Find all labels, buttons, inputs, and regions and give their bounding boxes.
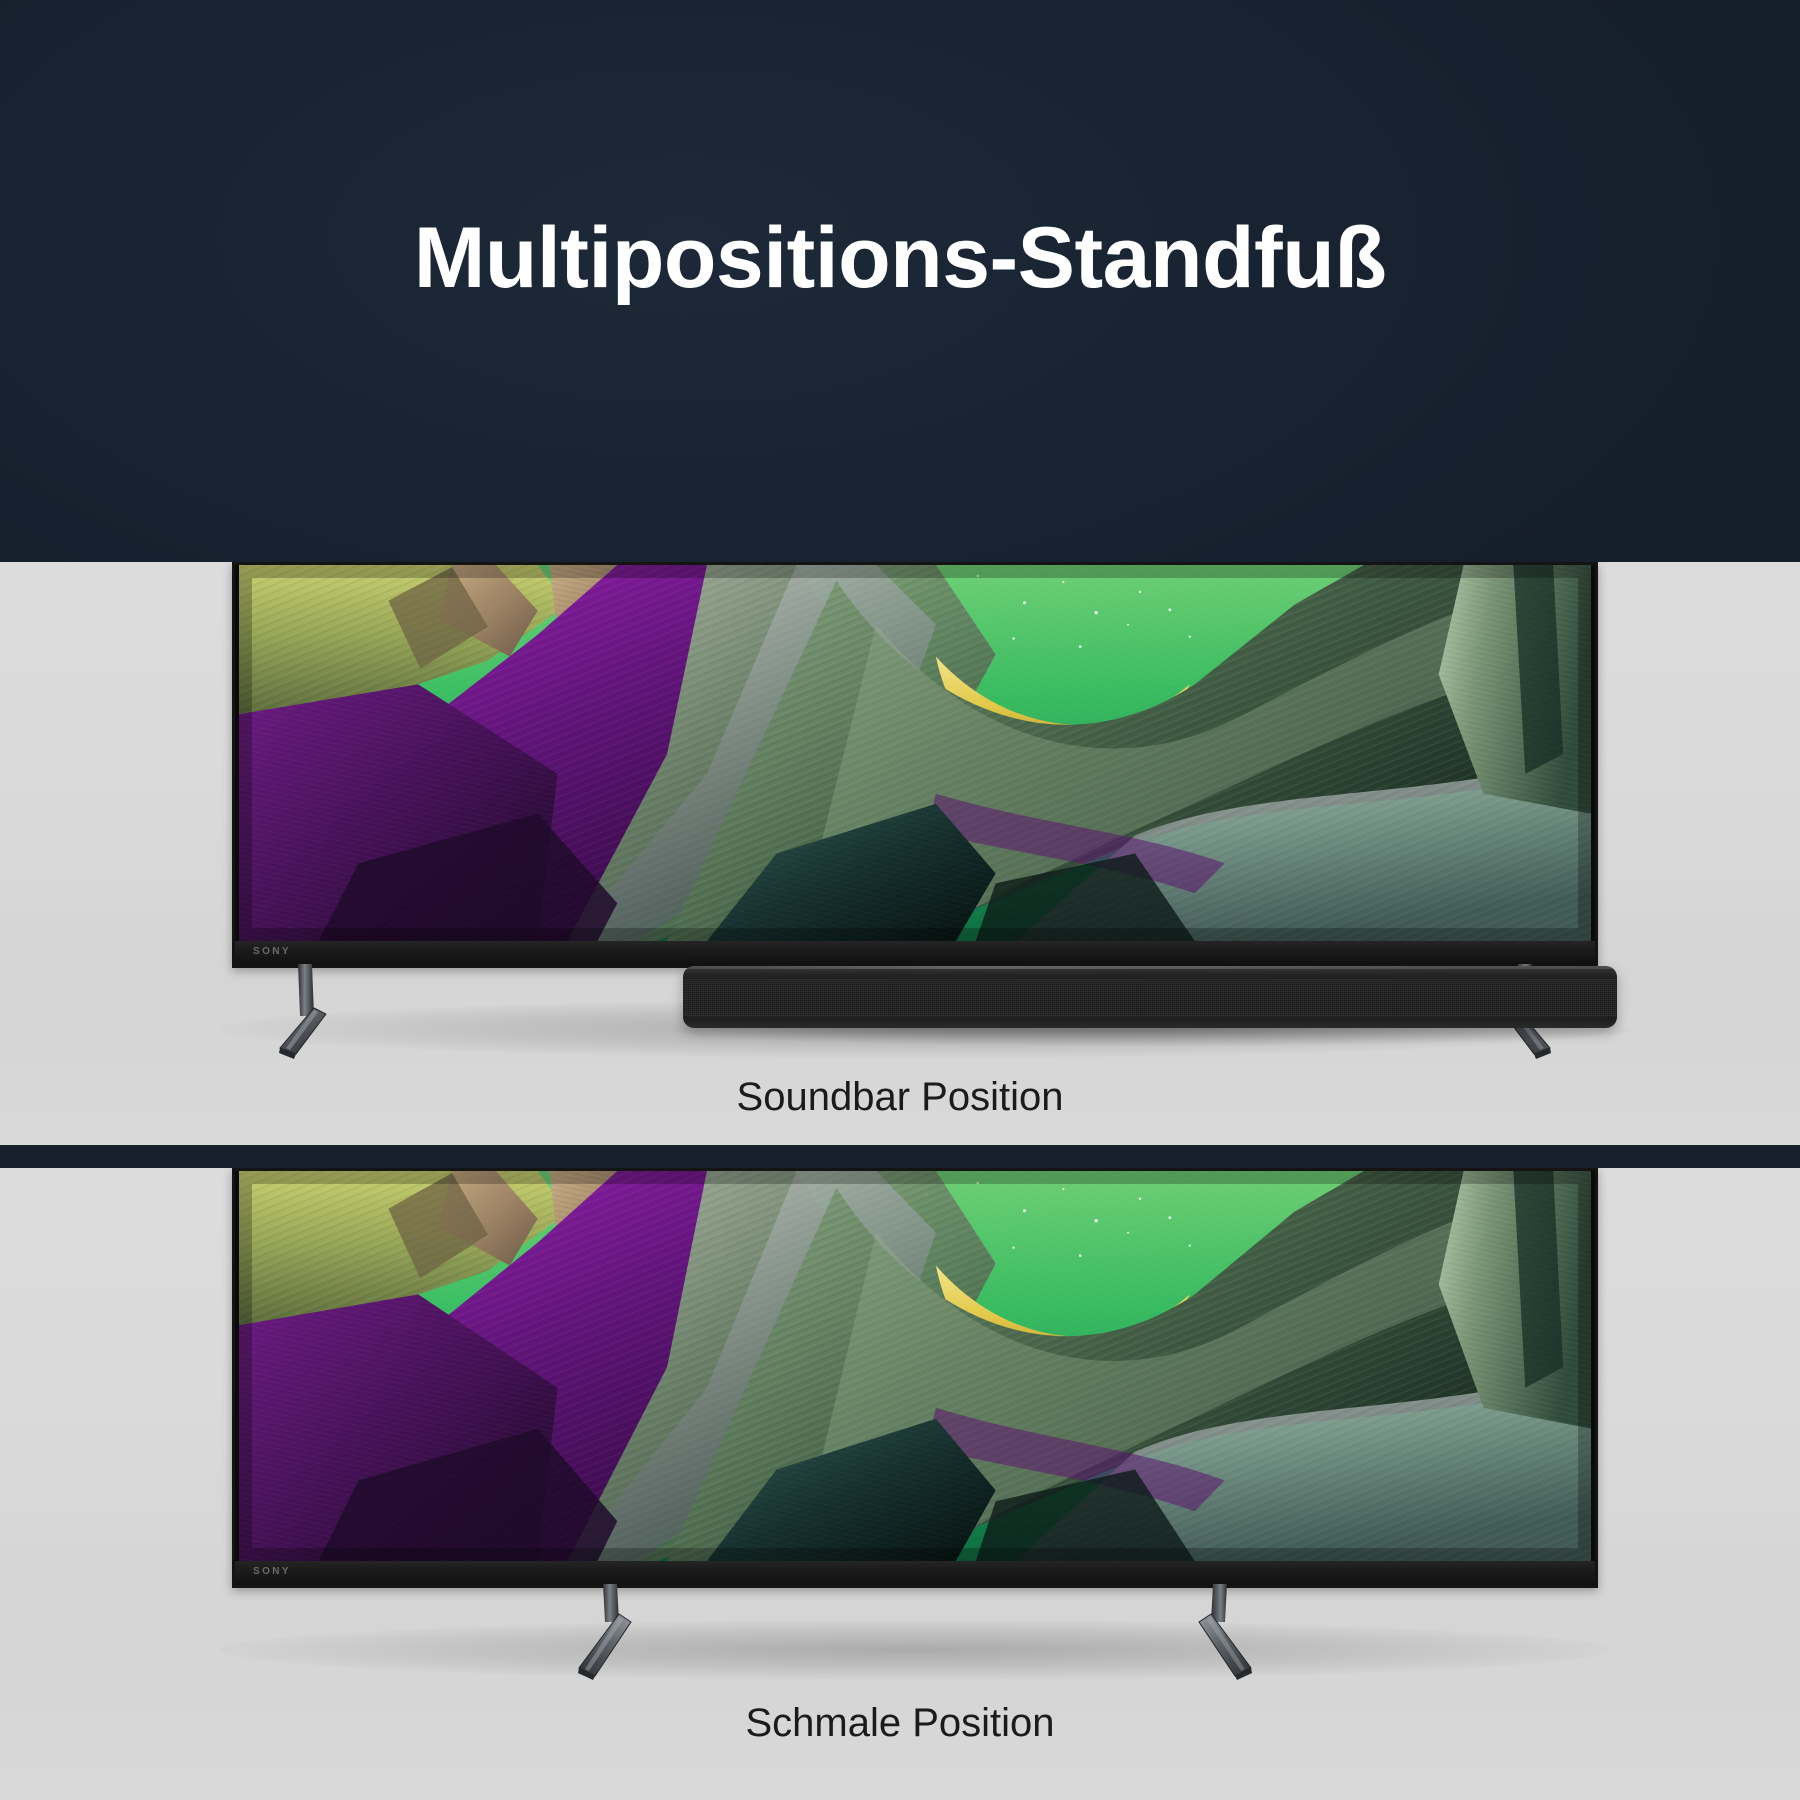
tv-leg-left-wide <box>268 964 342 1060</box>
sony-brand-logo: SONY <box>253 946 291 957</box>
tv-leg-right-narrow <box>1187 1584 1261 1680</box>
television-narrow-stand: SONY <box>232 1168 1598 1588</box>
tv-chassis: SONY <box>232 562 1598 968</box>
soundbar-device <box>683 966 1617 1028</box>
tv-floor-shadow <box>220 1620 1610 1680</box>
tv-bottom-bezel: SONY <box>235 941 1595 965</box>
caption-soundbar-position: Soundbar Position <box>0 1075 1800 1120</box>
soundbar-grille <box>683 979 1617 1017</box>
tv-chassis: SONY <box>232 1168 1598 1588</box>
product-feature-image: Multipositions-Standfuß <box>0 0 1800 1800</box>
caption-narrow-position: Schmale Position <box>0 1701 1800 1746</box>
sony-brand-logo: SONY <box>253 1566 291 1577</box>
soundbar-top-edge <box>683 966 1617 969</box>
page-title: Multipositions-Standfuß <box>0 215 1800 301</box>
tv-bottom-bezel: SONY <box>235 1561 1595 1585</box>
tv-leg-left-narrow <box>569 1584 643 1680</box>
tv-screen <box>239 565 1591 941</box>
television-wide-stand: SONY <box>232 562 1598 968</box>
screen-artwork <box>239 1171 1591 1561</box>
panel-soundbar-position: SONY <box>0 562 1800 1145</box>
screen-artwork <box>239 565 1591 941</box>
section-divider <box>0 1145 1800 1168</box>
header-banner: Multipositions-Standfuß <box>0 0 1800 562</box>
panel-narrow-position: SONY <box>0 1168 1800 1800</box>
tv-screen <box>239 1171 1591 1561</box>
